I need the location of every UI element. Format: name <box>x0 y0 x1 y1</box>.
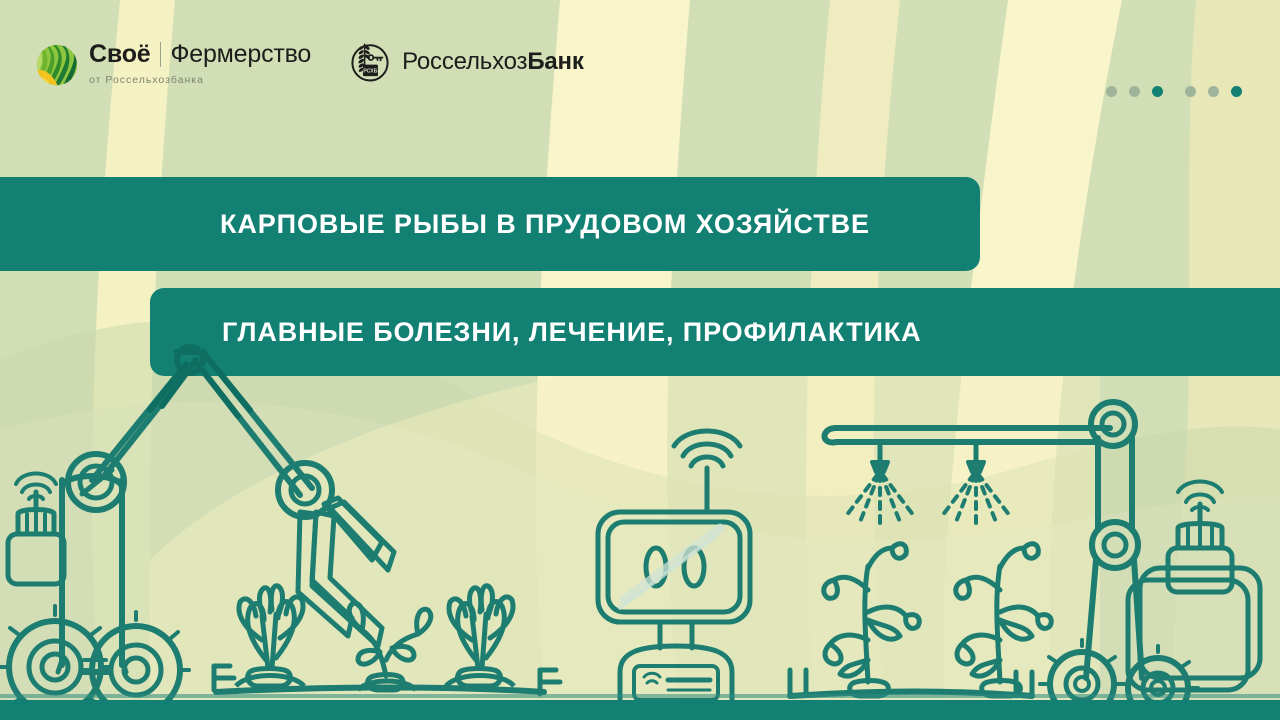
svoe-logo-wordmark: Своё Фермерство <box>89 42 311 67</box>
title-line-1: КАРПОВЫЕ РЫБЫ В ПРУДОВОМ ХОЗЯЙСТВЕ <box>220 210 870 238</box>
rshb-emblem-icon: РСХБ <box>348 40 392 84</box>
rosselkhozbank-logo[interactable]: РСХБ РоссельхозБанк <box>348 40 584 84</box>
rshb-word-bold: Банк <box>527 48 583 75</box>
pager-dot-group-2 <box>1185 86 1242 97</box>
svg-text:РСХБ: РСХБ <box>363 69 377 75</box>
pager-dot-4[interactable] <box>1185 86 1196 97</box>
title-line-2: ГЛАВНЫЕ БОЛЕЗНИ, ЛЕЧЕНИЕ, ПРОФИЛАКТИКА <box>222 318 922 346</box>
svoe-circle-logo-icon <box>36 44 78 86</box>
pager-dot-6[interactable] <box>1231 86 1242 97</box>
fermerstvo-word: Фермерство <box>170 42 311 67</box>
pager-dot-3[interactable] <box>1152 86 1163 97</box>
logo-divider <box>160 42 161 67</box>
svoe-logo-subtitle: от Россельхозбанка <box>89 74 311 86</box>
pager-dot-2[interactable] <box>1129 86 1140 97</box>
slide-header: Своё Фермерство от Россельхозбанка <box>0 0 1280 140</box>
rshb-word-light: Россельхоз <box>402 48 527 75</box>
logo-group: Своё Фермерство от Россельхозбанка <box>36 42 584 86</box>
svoe-word: Своё <box>89 42 150 67</box>
title-bar-primary: КАРПОВЫЕ РЫБЫ В ПРУДОВОМ ХОЗЯЙСТВЕ <box>0 177 980 271</box>
pager-dot-1[interactable] <box>1106 86 1117 97</box>
rshb-wordmark: РоссельхозБанк <box>402 50 584 74</box>
slide-root: Своё Фермерство от Россельхозбанка <box>0 0 1280 720</box>
svoe-fermerstvo-logo[interactable]: Своё Фермерство от Россельхозбанка <box>36 42 311 86</box>
pager-dots[interactable] <box>1106 86 1242 97</box>
svoe-logo-text: Своё Фермерство от Россельхозбанка <box>89 42 311 86</box>
title-bar-secondary: ГЛАВНЫЕ БОЛЕЗНИ, ЛЕЧЕНИЕ, ПРОФИЛАКТИКА <box>150 288 1280 376</box>
pager-dot-group-1 <box>1106 86 1163 97</box>
pager-dot-5[interactable] <box>1208 86 1219 97</box>
